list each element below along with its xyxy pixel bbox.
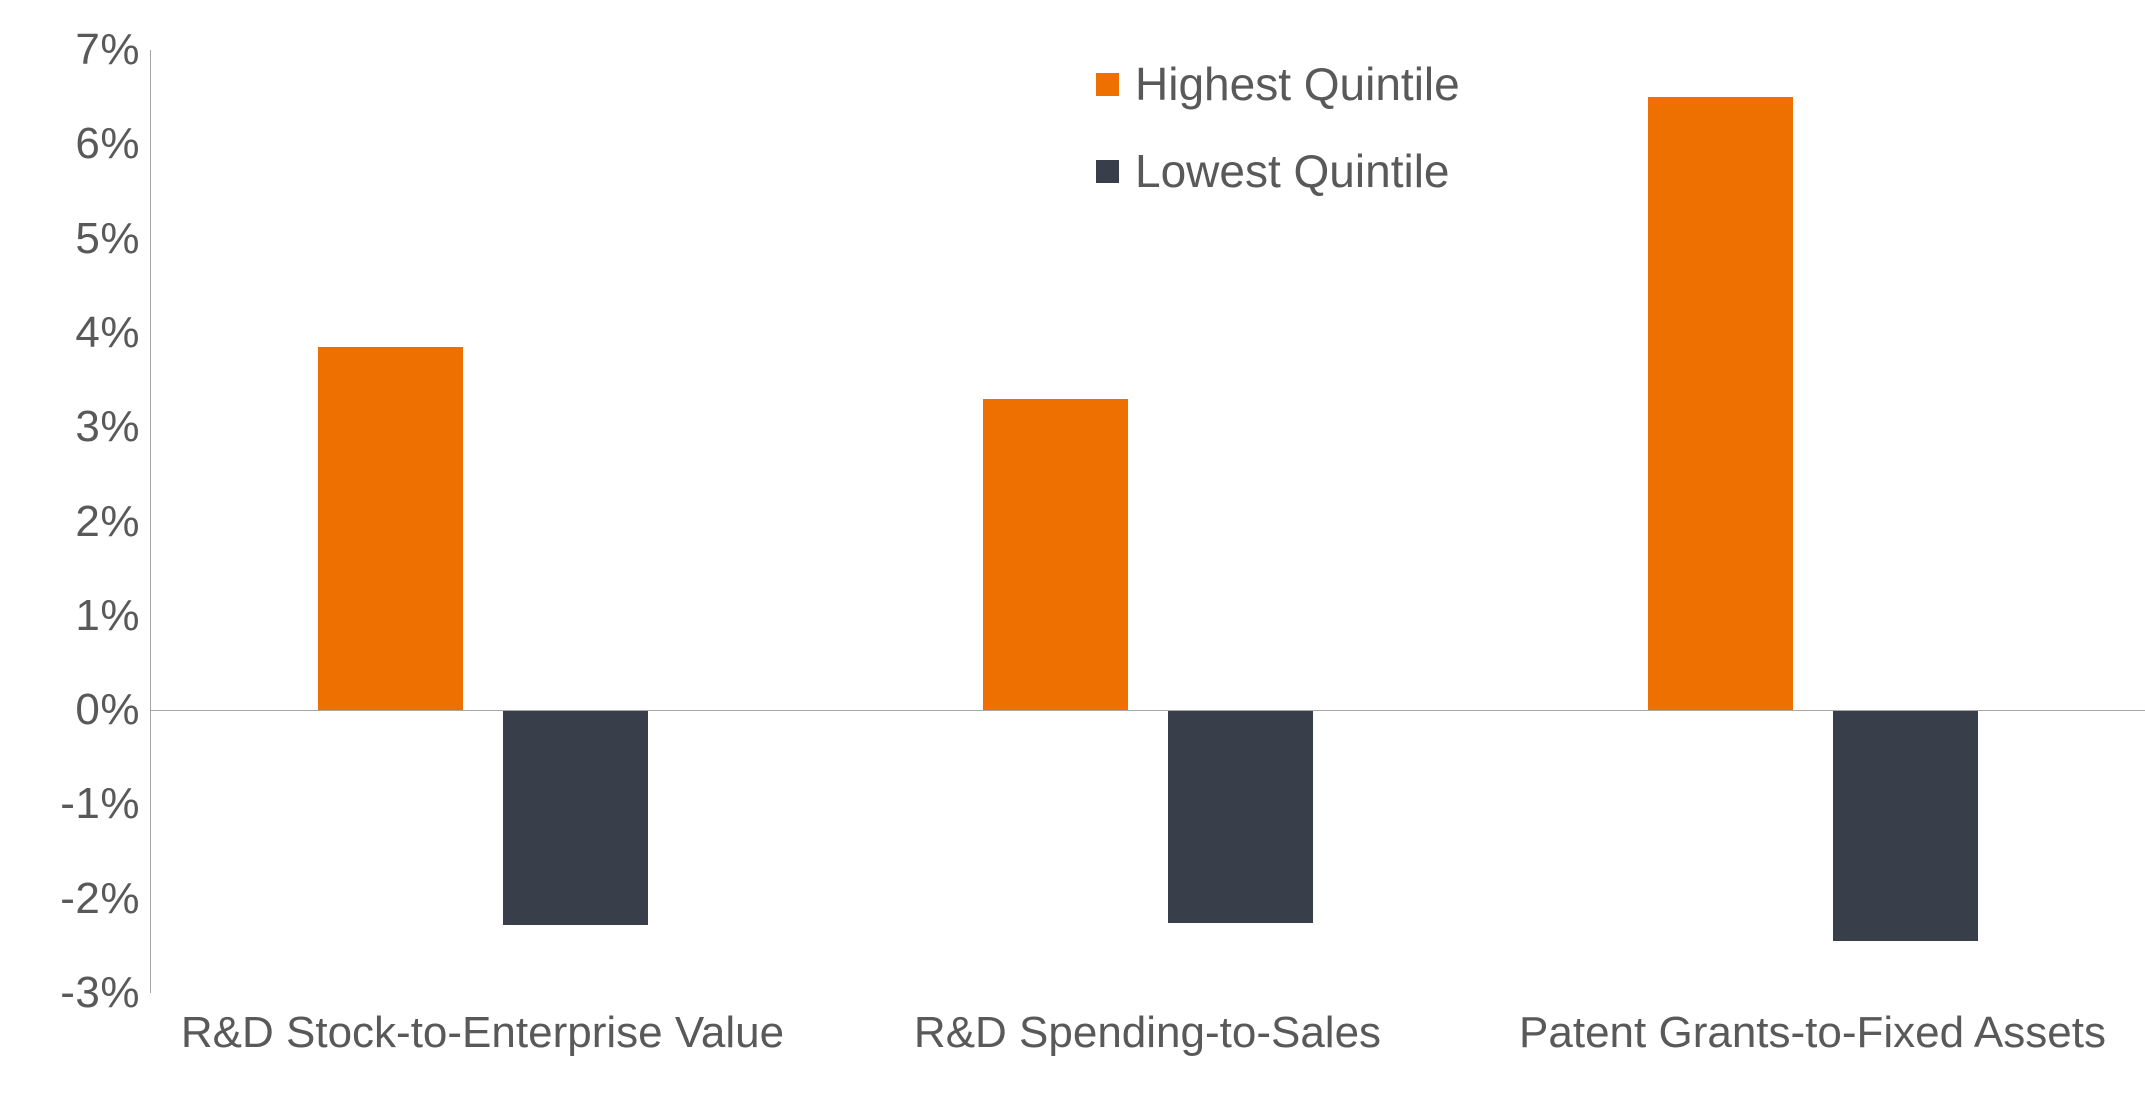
x-axis-category-label: R&D Spending-to-Sales <box>815 1008 1480 1059</box>
y-axis-tick-label: 4% <box>10 311 140 355</box>
y-axis-tick-label: -1% <box>10 782 140 826</box>
bar-lowest-quintile[interactable] <box>503 710 648 925</box>
y-axis-tick-label: 7% <box>10 28 140 72</box>
legend: Highest QuintileLowest Quintile <box>1096 52 1460 226</box>
bar-lowest-quintile[interactable] <box>1168 710 1313 923</box>
y-axis-tick-label: 1% <box>10 594 140 638</box>
y-axis-tick-label: 5% <box>10 217 140 261</box>
legend-label: Highest Quintile <box>1135 61 1460 107</box>
bar-group <box>1480 50 2145 993</box>
x-axis-category-label: Patent Grants-to-Fixed Assets <box>1480 1008 2145 1059</box>
y-axis-tick-label: 0% <box>10 688 140 732</box>
bar-highest-quintile[interactable] <box>1648 97 1793 710</box>
bar-highest-quintile[interactable] <box>318 347 463 710</box>
legend-entry[interactable]: Lowest Quintile <box>1096 139 1460 203</box>
y-axis-tick-label: 2% <box>10 500 140 544</box>
x-axis-category-labels: R&D Stock-to-Enterprise ValueR&D Spendin… <box>150 1008 2145 1078</box>
y-axis-tick-label: 3% <box>10 405 140 449</box>
bar-chart: 7%6%5%4%3%2%1%0%-1%-2%-3% R&D Stock-to-E… <box>0 0 2145 1118</box>
legend-entry[interactable]: Highest Quintile <box>1096 52 1460 116</box>
y-axis-tick-label: -2% <box>10 877 140 921</box>
y-axis-tick-label: 6% <box>10 122 140 166</box>
legend-swatch-lowest-quintile-icon <box>1096 160 1119 183</box>
y-axis-tick-label: -3% <box>10 971 140 1015</box>
zero-baseline <box>150 710 2145 711</box>
legend-swatch-highest-quintile-icon <box>1096 73 1119 96</box>
bar-lowest-quintile[interactable] <box>1833 710 1978 941</box>
x-axis-category-label: R&D Stock-to-Enterprise Value <box>150 1008 815 1059</box>
bar-group <box>150 50 815 993</box>
bar-highest-quintile[interactable] <box>983 399 1128 710</box>
legend-label: Lowest Quintile <box>1135 148 1450 194</box>
y-axis-tick-labels: 7%6%5%4%3%2%1%0%-1%-2%-3% <box>0 0 140 1118</box>
